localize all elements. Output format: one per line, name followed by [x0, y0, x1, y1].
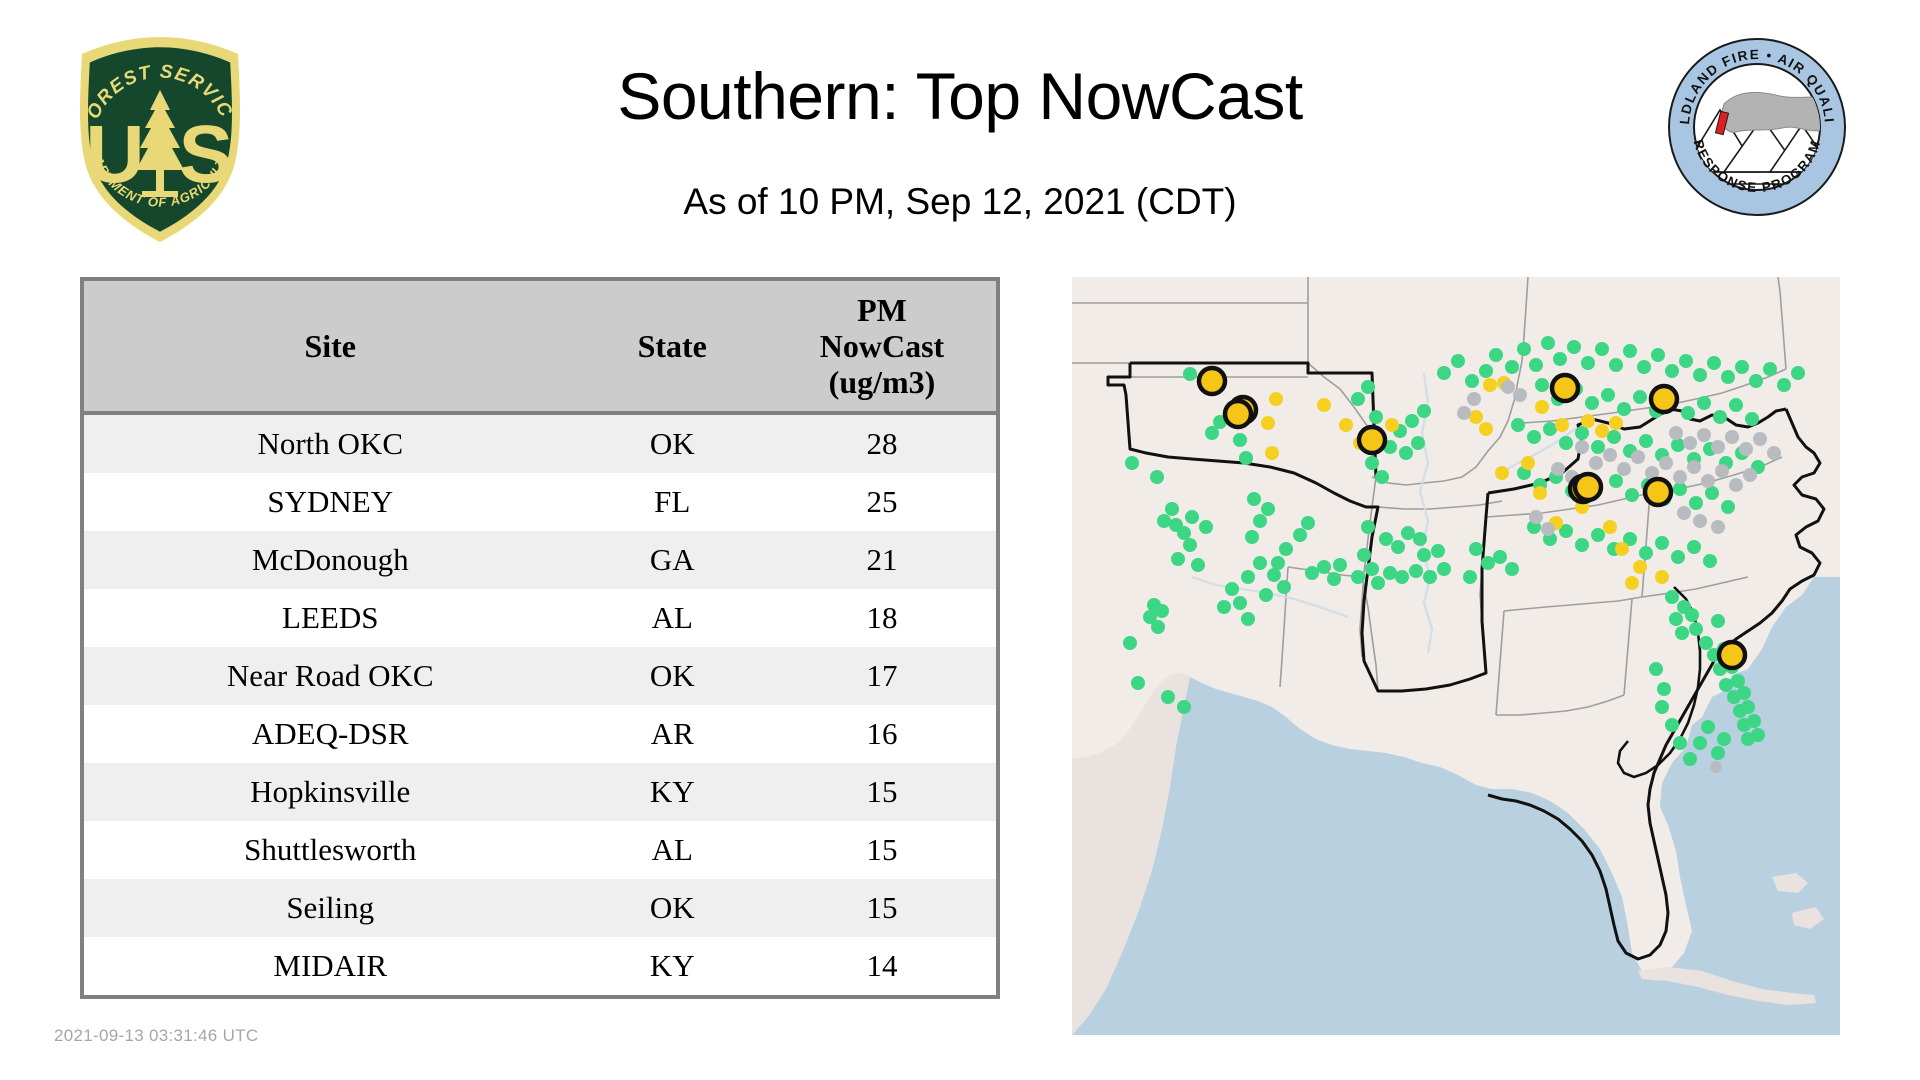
column-header-pm-nowcast: PM NowCast (ug/m3) [768, 281, 996, 413]
cell-pm-nowcast: 21 [768, 531, 996, 589]
page-title: Southern: Top NowCast [0, 58, 1920, 134]
cell-pm-nowcast: 15 [768, 879, 996, 937]
table-row: North OKCOK28 [84, 413, 996, 473]
pm-header-line-2: NowCast [772, 328, 992, 364]
cell-site: LEEDS [84, 589, 576, 647]
cell-site: SYDNEY [84, 473, 576, 531]
table-header-row: Site State PM NowCast (ug/m3) [84, 281, 996, 413]
table-row: SYDNEYFL25 [84, 473, 996, 531]
cell-state: KY [576, 937, 768, 995]
highlighted-site-marker[interactable]: ADEQ-DSR [1359, 427, 1385, 453]
cell-state: FL [576, 473, 768, 531]
cell-state: AL [576, 821, 768, 879]
column-header-site: Site [84, 281, 576, 413]
table-row: SeilingOK15 [84, 879, 996, 937]
cell-pm-nowcast: 14 [768, 937, 996, 995]
cell-pm-nowcast: 18 [768, 589, 996, 647]
cell-site: Shuttlesworth [84, 821, 576, 879]
page-subtitle: As of 10 PM, Sep 12, 2021 (CDT) [0, 180, 1920, 224]
highlighted-site-marker[interactable]: SYDNEY [1719, 642, 1745, 668]
pm-header-line-1: PM [772, 292, 992, 328]
cell-pm-nowcast: 25 [768, 473, 996, 531]
cell-state: OK [576, 647, 768, 705]
top-nowcast-table: Site State PM NowCast (ug/m3) North OKCO… [80, 277, 1000, 999]
table-row: ADEQ-DSRAR16 [84, 705, 996, 763]
highlighted-site-marker[interactable]: Hopkinsville [1552, 375, 1578, 401]
highlighted-site-marker[interactable]: MIDAIR [1651, 386, 1677, 412]
cell-pm-nowcast: 17 [768, 647, 996, 705]
southern-region-monitor-map[interactable]: SeilingNorth OKCNear Road OKCADEQ-DSRHop… [1072, 277, 1840, 1035]
cell-site: McDonough [84, 531, 576, 589]
cell-site: North OKC [84, 413, 576, 473]
cell-pm-nowcast: 16 [768, 705, 996, 763]
cell-pm-nowcast: 28 [768, 413, 996, 473]
table-row: LEEDSAL18 [84, 589, 996, 647]
cell-state: GA [576, 531, 768, 589]
cell-state: AR [576, 705, 768, 763]
cell-state: KY [576, 763, 768, 821]
map-canvas: SeilingNorth OKCNear Road OKCADEQ-DSRHop… [1072, 277, 1840, 1035]
table-body: North OKCOK28SYDNEYFL25McDonoughGA21LEED… [84, 413, 996, 995]
cell-state: OK [576, 413, 768, 473]
table-row: Near Road OKCOK17 [84, 647, 996, 705]
cell-site: Near Road OKC [84, 647, 576, 705]
column-header-state: State [576, 281, 768, 413]
generated-timestamp: 2021-09-13 03:31:46 UTC [54, 1026, 258, 1046]
highlighted-site-marker[interactable]: Near Road OKC [1225, 401, 1251, 427]
highlighted-site-marker[interactable]: McDonough [1645, 479, 1671, 505]
cell-site: ADEQ-DSR [84, 705, 576, 763]
table-row: McDonoughGA21 [84, 531, 996, 589]
table-row: HopkinsvilleKY15 [84, 763, 996, 821]
cell-pm-nowcast: 15 [768, 821, 996, 879]
cell-pm-nowcast: 15 [768, 763, 996, 821]
cell-site: MIDAIR [84, 937, 576, 995]
pm-header-line-3: (ug/m3) [772, 364, 992, 400]
cell-site: Hopkinsville [84, 763, 576, 821]
cell-site: Seiling [84, 879, 576, 937]
table-row: MIDAIRKY14 [84, 937, 996, 995]
cell-state: AL [576, 589, 768, 647]
highlighted-site-marker[interactable]: Seiling [1199, 368, 1225, 394]
cell-state: OK [576, 879, 768, 937]
highlighted-site-marker[interactable]: LEEDS [1575, 474, 1601, 500]
table-row: ShuttlesworthAL15 [84, 821, 996, 879]
